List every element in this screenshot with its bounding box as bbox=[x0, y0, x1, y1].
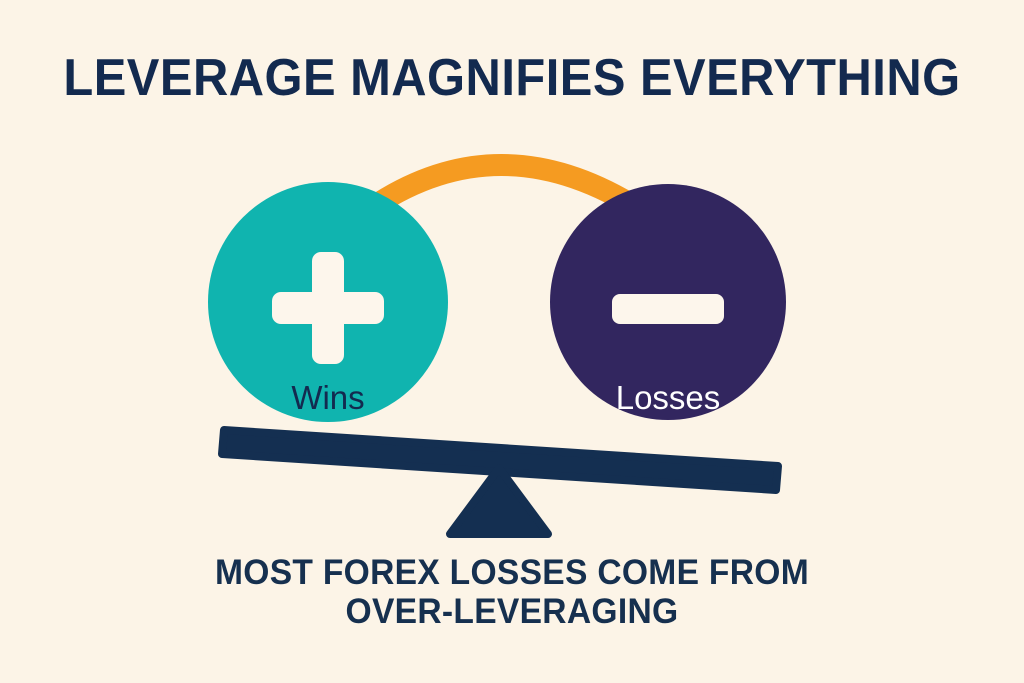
infographic-canvas: LEVERAGE MAGNIFIES EVERYTHING bbox=[0, 0, 1024, 683]
caption-line-1: MOST FOREX LOSSES COME FROM bbox=[20, 553, 1003, 592]
wins-label: Wins bbox=[228, 381, 428, 414]
caption: MOST FOREX LOSSES COME FROM OVER-LEVERAG… bbox=[0, 553, 1024, 631]
losses-label: Losses bbox=[568, 381, 768, 414]
minus-icon bbox=[612, 294, 724, 324]
caption-line-2: OVER-LEVERAGING bbox=[20, 592, 1003, 631]
